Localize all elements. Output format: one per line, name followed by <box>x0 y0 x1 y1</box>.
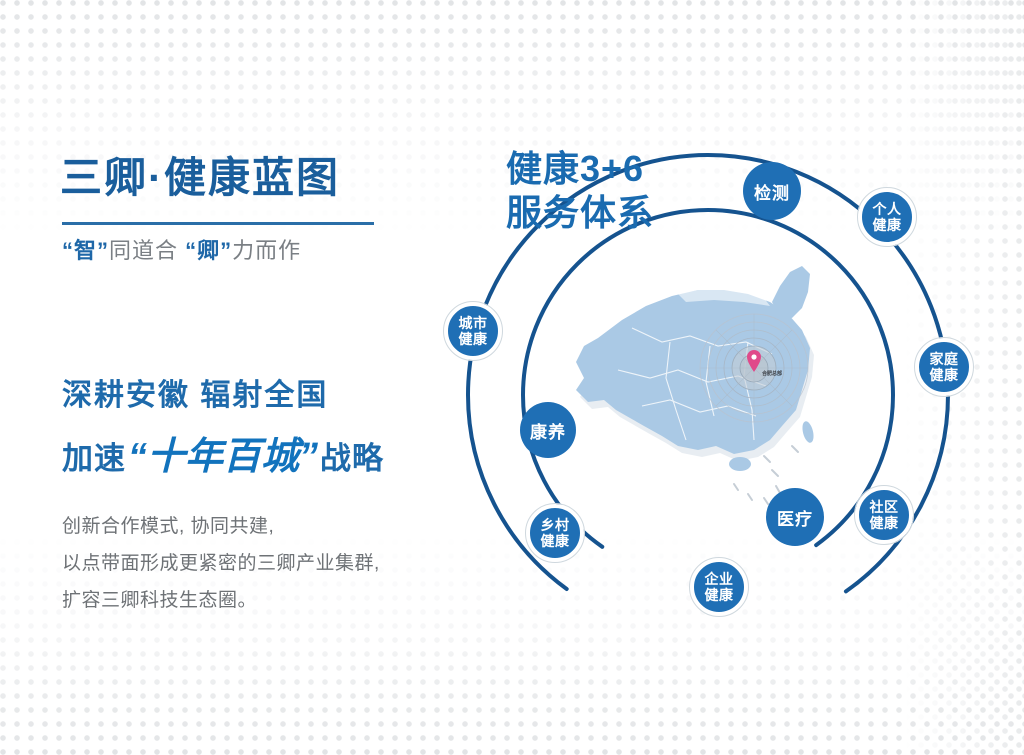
node-shequ-jiankang[interactable]: 社区 健康 <box>855 486 913 544</box>
node-jiating-jiankang[interactable]: 家庭 健康 <box>915 338 973 396</box>
node-chengshi-jiankang-line-2: 健康 <box>459 331 488 347</box>
china-map-shape <box>558 250 848 510</box>
node-jiating-jiankang-line-1: 家庭 <box>930 351 959 367</box>
node-geren-jiankang-line-2: 健康 <box>873 217 902 233</box>
node-jiating-jiankang-label: 家庭 健康 <box>930 351 959 383</box>
node-xiangcun-jiankang-line-2: 健康 <box>541 533 570 549</box>
china-map: 合肥总部 <box>558 250 848 510</box>
left-text-column: 三卿·健康蓝图 “智”同道合 “卿”力而作 深耕安徽 辐射全国 加速“十年百城”… <box>60 0 460 755</box>
node-geren-jiankang-line-1: 个人 <box>873 201 902 217</box>
poster-canvas: 三卿·健康蓝图 “智”同道合 “卿”力而作 深耕安徽 辐射全国 加速“十年百城”… <box>0 0 1024 755</box>
brand-subtitle: “智”同道合 “卿”力而作 <box>62 237 301 265</box>
diagram-title: 健康3+6 服务体系 <box>506 147 654 235</box>
brand-subtitle-part-3: “卿” <box>185 238 232 263</box>
node-shequ-jiankang-line-1: 社区 <box>870 499 899 515</box>
node-qiye-jiankang[interactable]: 企业 健康 <box>690 558 748 616</box>
node-qiye-jiankang-line-1: 企业 <box>705 571 734 587</box>
claim-line-2-prefix: 加速 <box>62 443 126 474</box>
body-copy-line: 扩容三卿科技生态圈。 <box>62 582 380 619</box>
brand-subtitle-part-4: 力而作 <box>232 238 301 263</box>
node-xiangcun-jiankang-line-1: 乡村 <box>541 517 570 533</box>
node-shequ-jiankang-label: 社区 健康 <box>870 499 899 531</box>
node-chengshi-jiankang[interactable]: 城市 健康 <box>444 302 502 360</box>
body-copy: 创新合作模式, 协同共建, 以点带面形成更紧密的三卿产业集群, 扩容三卿科技生态… <box>62 508 380 619</box>
node-kangyang[interactable]: 康养 <box>520 402 576 458</box>
node-geren-jiankang-label: 个人 健康 <box>873 201 902 233</box>
node-xiangcun-jiankang-label: 乡村 健康 <box>541 517 570 549</box>
node-kangyang-label: 康养 <box>530 418 566 443</box>
node-yiliao-label: 医疗 <box>777 505 813 530</box>
node-jiating-jiankang-line-2: 健康 <box>930 367 959 383</box>
health-service-diagram: 健康3+6 服务体系 <box>418 120 978 650</box>
brand-subtitle-part-1: “智” <box>62 238 109 263</box>
claim-line-2-suffix: 战略 <box>320 443 384 474</box>
node-qiye-jiankang-label: 企业 健康 <box>705 571 734 603</box>
node-chengshi-jiankang-line-1: 城市 <box>459 315 488 331</box>
brand-title: 三卿·健康蓝图 <box>60 157 340 199</box>
node-xiangcun-jiankang[interactable]: 乡村 健康 <box>526 504 584 562</box>
brand-subtitle-part-2: 同道合 <box>109 238 185 263</box>
claim-line-1: 深耕安徽 辐射全国 <box>62 381 328 411</box>
title-divider-rule <box>62 222 374 225</box>
body-copy-line: 以点带面形成更紧密的三卿产业集群, <box>62 545 380 582</box>
node-shequ-jiankang-line-2: 健康 <box>870 515 899 531</box>
node-jiance-label: 检测 <box>754 179 790 204</box>
diagram-title-line-1: 健康3+6 <box>506 147 654 191</box>
claim-line-2-emphasis: “十年百城” <box>126 438 320 476</box>
node-jiance[interactable]: 检测 <box>743 162 801 220</box>
claim-line-2: 加速“十年百城”战略 <box>62 438 384 476</box>
hq-pin-label: 合肥总部 <box>762 370 782 377</box>
node-geren-jiankang[interactable]: 个人 健康 <box>858 188 916 246</box>
node-chengshi-jiankang-label: 城市 健康 <box>459 315 488 347</box>
node-qiye-jiankang-line-2: 健康 <box>705 587 734 603</box>
diagram-title-line-2: 服务体系 <box>506 191 654 235</box>
node-yiliao[interactable]: 医疗 <box>766 488 824 546</box>
body-copy-line: 创新合作模式, 协同共建, <box>62 508 380 545</box>
